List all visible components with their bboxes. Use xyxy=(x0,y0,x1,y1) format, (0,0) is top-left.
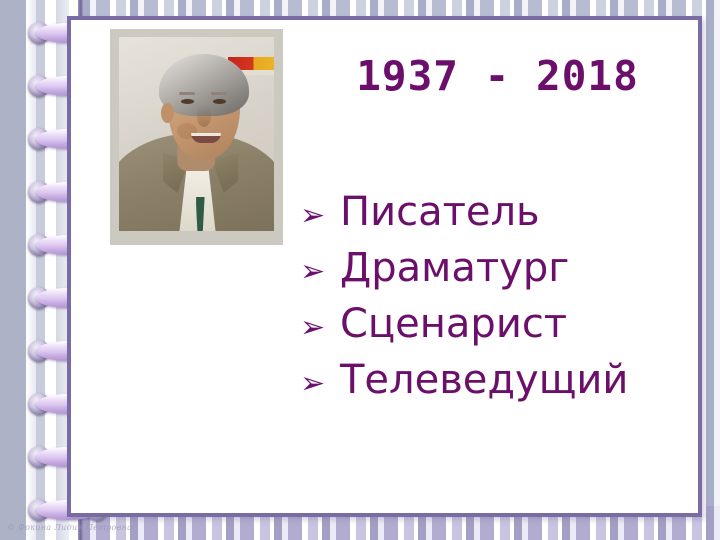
bullet-item-label: Телеведущий xyxy=(340,360,700,400)
bullet-item: ➢Писатель xyxy=(300,192,700,248)
photo-nose xyxy=(197,105,211,127)
bullet-item-label: Драматург xyxy=(340,248,700,288)
bullet-item: ➢Телеведущий xyxy=(300,360,700,416)
binding-band-outer xyxy=(0,0,26,540)
bullet-item-label: Писатель xyxy=(340,192,700,232)
arrow-bullet-icon: ➢ xyxy=(300,369,340,399)
photo-eye-left xyxy=(181,99,194,104)
slide-title-years: 1937 - 2018 xyxy=(300,52,695,100)
arrow-bullet-icon: ➢ xyxy=(300,257,340,287)
photo-ear xyxy=(161,103,174,123)
portrait-photo-frame xyxy=(110,29,283,245)
photo-eye-right xyxy=(213,99,226,104)
slide-canvas: 1937 - 2018 ➢Писатель➢Драматург➢Сценарис… xyxy=(0,0,720,540)
portrait-photo xyxy=(119,37,274,231)
photo-eyebrow-left xyxy=(179,92,195,95)
author-watermark: © Фокина Лидия Петровна xyxy=(7,523,132,532)
profession-bullet-list: ➢Писатель➢Драматург➢Сценарист➢Телеведущи… xyxy=(300,192,700,416)
arrow-bullet-icon: ➢ xyxy=(300,201,340,231)
bullet-item: ➢Сценарист xyxy=(300,304,700,360)
photo-eyebrow-right xyxy=(211,92,227,95)
arrow-bullet-icon: ➢ xyxy=(300,313,340,343)
bullet-item-label: Сценарист xyxy=(340,304,700,344)
bullet-item: ➢Драматург xyxy=(300,248,700,304)
